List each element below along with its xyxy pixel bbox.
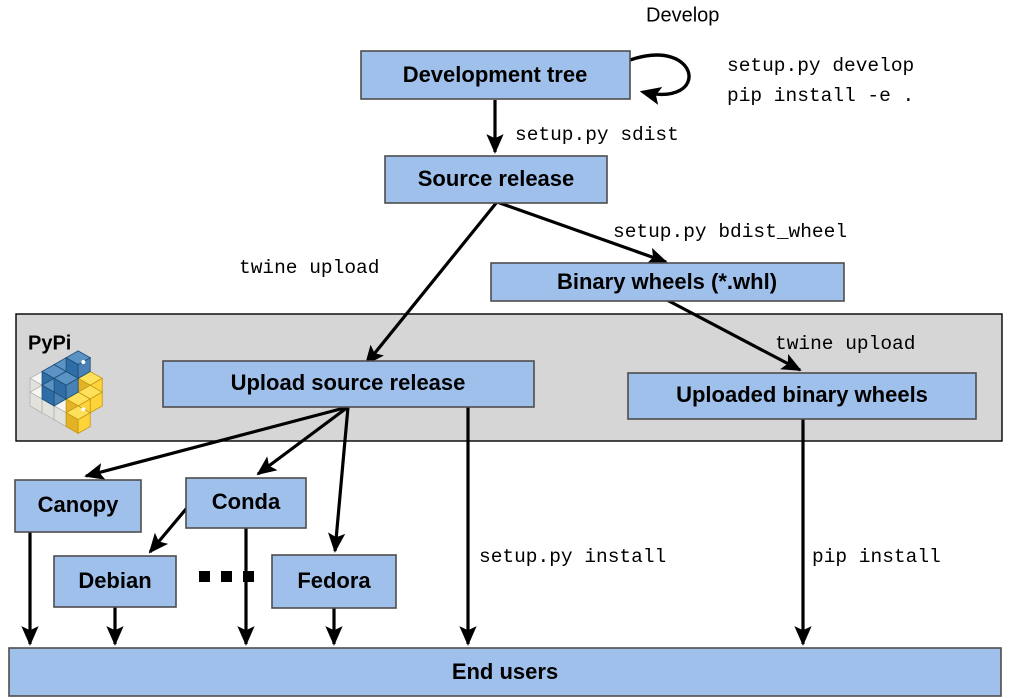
- packaging-flow-diagram: Development tree Source release Binary w…: [0, 0, 1009, 698]
- node-debian-label: Debian: [78, 568, 151, 593]
- node-binary-wheels-label: Binary wheels (*.whl): [557, 269, 777, 294]
- edge-label-develop: Develop: [646, 4, 719, 26]
- node-development-tree-label: Development tree: [403, 62, 588, 87]
- node-conda-label: Conda: [212, 489, 281, 514]
- edge-label-setup-install: setup.py install: [479, 546, 666, 568]
- node-upload-source-release-label: Upload source release: [231, 370, 466, 395]
- edge-label-setup-bdist-wheel: setup.py bdist_wheel: [613, 221, 847, 243]
- pypi-group-label: PyPi: [28, 332, 71, 354]
- ellipsis-more-distros: [199, 571, 254, 582]
- edge-label-twine-upload-wheels: twine upload: [775, 333, 915, 355]
- edge-label-twine-upload-source: twine upload: [239, 257, 379, 279]
- node-uploaded-binary-wheels-label: Uploaded binary wheels: [676, 382, 928, 407]
- edge-label-setup-develop: setup.py develop: [727, 55, 914, 77]
- diagram-canvas: Development tree Source release Binary w…: [0, 0, 1009, 698]
- edge-label-setup-sdist: setup.py sdist: [515, 124, 679, 146]
- node-fedora-label: Fedora: [297, 568, 371, 593]
- edge-develop-loop: [630, 55, 689, 94]
- node-canopy-label: Canopy: [38, 492, 119, 517]
- node-source-release-label: Source release: [418, 166, 575, 191]
- edge-label-pip-install-editable: pip install -e .: [727, 85, 914, 107]
- node-end-users-label: End users: [452, 659, 558, 684]
- edge-label-pip-install: pip install: [812, 546, 941, 568]
